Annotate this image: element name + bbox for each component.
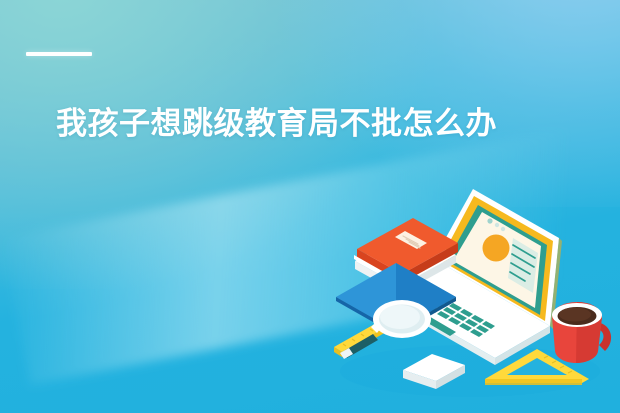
banner: 我孩子想跳级教育局不批怎么办 <box>0 0 620 413</box>
page-title: 我孩子想跳级教育局不批怎么办 <box>56 104 497 144</box>
accent-rule <box>26 52 92 56</box>
education-illustration <box>310 175 620 413</box>
coffee-mug-icon <box>552 302 611 363</box>
